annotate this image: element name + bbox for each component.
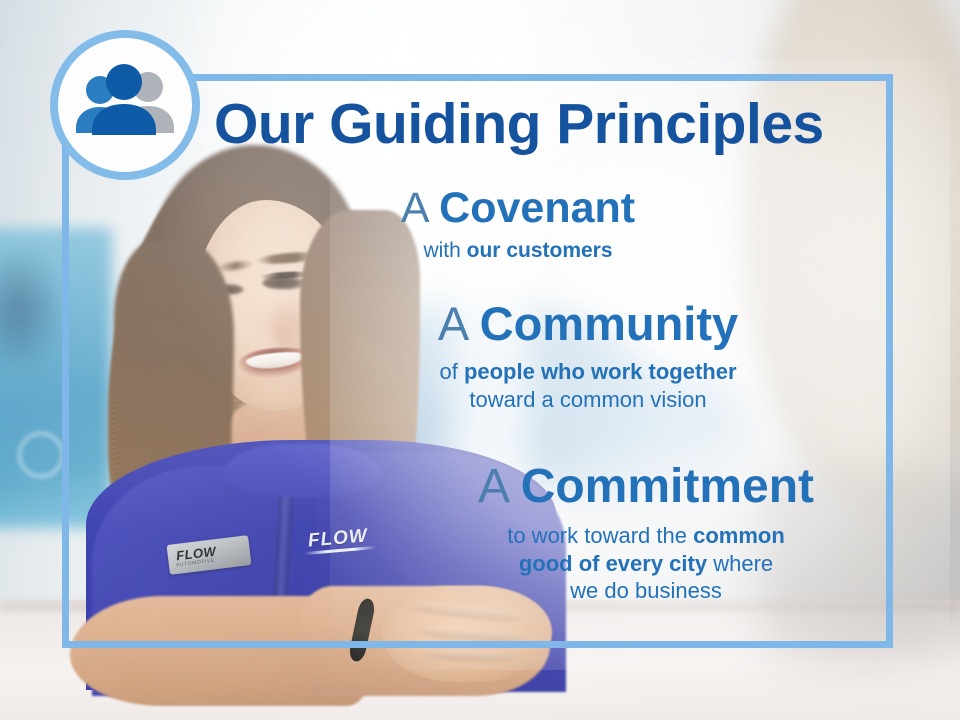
subtext-line: toward a common vision bbox=[362, 386, 814, 414]
principle-community-heading: A Community bbox=[362, 300, 814, 349]
subtext-plain: with bbox=[423, 239, 466, 262]
principle-covenant-article: A bbox=[401, 184, 427, 232]
subtext-plain: where bbox=[707, 551, 773, 576]
subtext-line: we do business bbox=[420, 577, 872, 605]
employee-polo-collar bbox=[222, 444, 382, 498]
subtext-emphasis: people who work together bbox=[464, 359, 737, 384]
principle-covenant-heading: A Covenant bbox=[318, 186, 718, 231]
subtext-plain: to work toward the bbox=[507, 523, 693, 548]
poster-logo-mark bbox=[18, 432, 64, 478]
principle-covenant: A Covenant with our customers bbox=[318, 186, 718, 264]
subtext-emphasis: our customers bbox=[467, 239, 613, 262]
subtext-line: good of every city where bbox=[420, 550, 872, 578]
subtext-emphasis: good of every city bbox=[519, 551, 707, 576]
principle-community-subtext: of people who work togethertoward a comm… bbox=[362, 358, 814, 413]
subtext-plain: we do business bbox=[570, 578, 722, 603]
principle-community-article: A bbox=[438, 297, 467, 350]
subtext-line: of people who work together bbox=[362, 358, 814, 386]
principle-commitment-subtext: to work toward the commongood of every c… bbox=[420, 522, 872, 605]
guiding-principles-graphic: FLOW AUTOMOTIVE FLOW Our Guiding Princip… bbox=[0, 0, 960, 720]
principle-community: A Community of people who work togethert… bbox=[362, 300, 814, 413]
subtext-plain: toward a common vision bbox=[469, 387, 706, 412]
subtext-emphasis: common bbox=[693, 523, 785, 548]
poster-shadow bbox=[0, 250, 60, 370]
subtext-line: to work toward the common bbox=[420, 522, 872, 550]
principle-commitment-article: A bbox=[478, 460, 507, 513]
principle-commitment-heading: A Commitment bbox=[420, 462, 872, 512]
principle-community-keyword: Community bbox=[480, 297, 739, 350]
principle-commitment: A Commitment to work toward the commongo… bbox=[420, 462, 872, 605]
subtext-plain: of bbox=[439, 359, 463, 384]
subtext-line: with our customers bbox=[318, 238, 718, 264]
principle-covenant-keyword: Covenant bbox=[439, 184, 635, 232]
people-group-icon bbox=[70, 62, 180, 148]
principle-covenant-subtext: with our customers bbox=[318, 238, 718, 264]
people-group-badge bbox=[50, 30, 200, 180]
principle-commitment-keyword: Commitment bbox=[521, 460, 814, 513]
page-title: Our Guiding Principles bbox=[214, 96, 874, 153]
